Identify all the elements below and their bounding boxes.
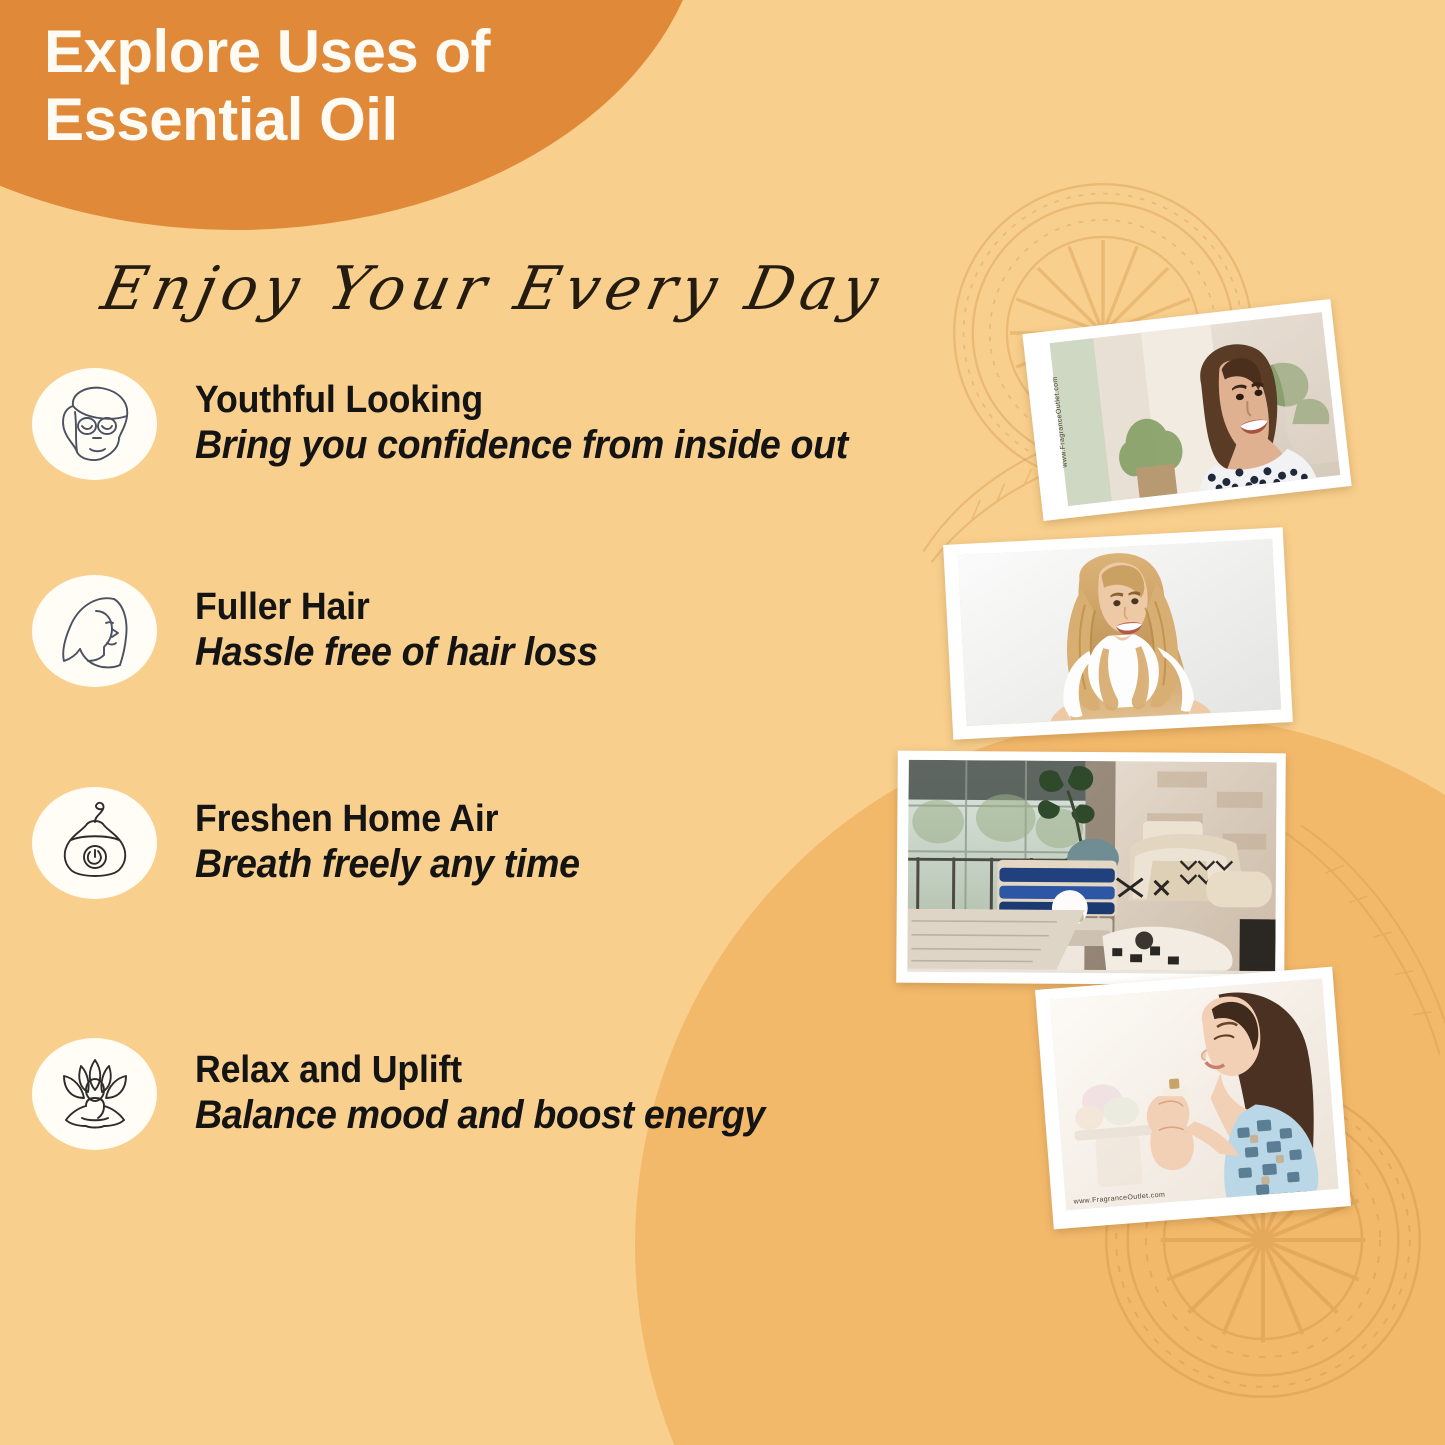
- long-hair-profile-icon: [32, 575, 157, 687]
- poster-root: Explore Uses of Essential Oil Enjoy Your…: [0, 0, 1445, 1445]
- face-mask-icon: [32, 368, 157, 480]
- feature-subtitle: Breath freely any time: [195, 842, 580, 888]
- photo-image: [1050, 979, 1339, 1211]
- photo-blonde-wavy-hair: [943, 527, 1293, 740]
- lotus-meditation-icon: [32, 1038, 157, 1150]
- aroma-diffuser-icon: [32, 787, 157, 899]
- page-title: Explore Uses of Essential Oil: [44, 18, 664, 154]
- page-title-line-2: Essential Oil: [44, 86, 664, 154]
- feature-text-block: Youthful Looking Bring you confidence fr…: [195, 379, 890, 469]
- feature-subtitle: Bring you confidence from inside out: [195, 423, 848, 469]
- feature-title: Freshen Home Air: [195, 798, 580, 841]
- photo-living-room-diffuser: [896, 751, 1286, 986]
- feature-title: Youthful Looking: [195, 379, 848, 422]
- feature-text-block: Relax and Uplift Balance mood and boost …: [195, 1049, 801, 1139]
- photo-image: [958, 539, 1282, 726]
- feature-subtitle: Balance mood and boost energy: [195, 1093, 765, 1139]
- feature-row-fuller-hair: Fuller Hair Hassle free of hair loss: [32, 575, 1042, 687]
- feature-row-freshen-home-air: Freshen Home Air Breath freely any time: [32, 787, 1042, 899]
- feature-title: Relax and Uplift: [195, 1049, 765, 1092]
- photo-image: [907, 760, 1276, 975]
- feature-subtitle: Hassle free of hair loss: [195, 630, 598, 676]
- photo-smiling-woman: www.FragranceOutlet.com: [1022, 299, 1351, 521]
- photo-woman-applying-perfume: www.FragranceOutlet.com: [1035, 967, 1351, 1230]
- page-title-line-1: Explore Uses of: [44, 18, 664, 86]
- feature-title: Fuller Hair: [195, 586, 598, 629]
- feature-row-relax-and-uplift: Relax and Uplift Balance mood and boost …: [32, 1038, 1042, 1150]
- feature-text-block: Fuller Hair Hassle free of hair loss: [195, 586, 623, 676]
- feature-row-youthful-looking: Youthful Looking Bring you confidence fr…: [32, 368, 1042, 480]
- feature-text-block: Freshen Home Air Breath freely any time: [195, 798, 604, 888]
- photo-image: [1050, 312, 1341, 506]
- tagline: Enjoy Your Every Day: [96, 254, 891, 324]
